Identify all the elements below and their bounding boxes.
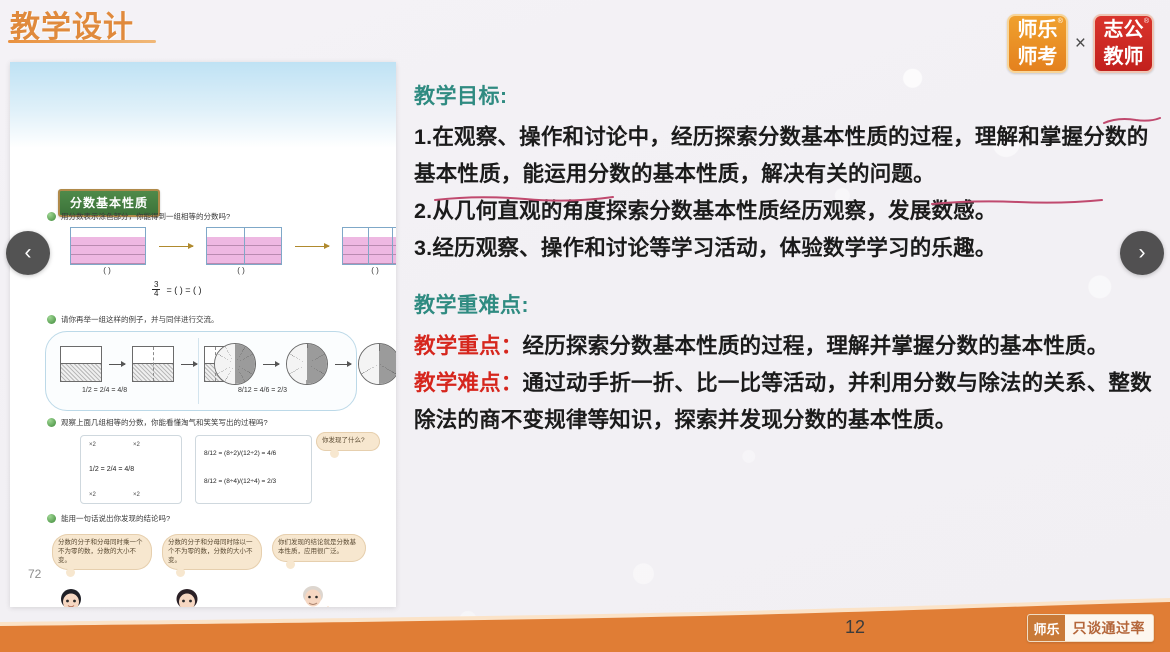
- teaching-goals-heading: 教学目标:: [414, 80, 1162, 110]
- book-question-1-text: 用分数表示涂色部分，你能得到一组相等的分数吗?: [61, 212, 230, 221]
- book-page-number: 72: [28, 567, 41, 581]
- speech-bubble-1: 分数的分子和分母同时乘一个不为零的数，分数的大小不变。: [52, 534, 152, 570]
- logo-right-line2: 教师: [1104, 47, 1144, 67]
- thought-bubble: 你发现了什么?: [316, 432, 380, 451]
- textbook-page-image: 分数基本性质 用分数表示涂色部分，你能得到一组相等的分数吗? (: [10, 62, 396, 607]
- book-equation-1: 3 4 = ( ) = ( ): [152, 281, 201, 298]
- bottom-bar: 12 师乐 只谈通过率: [0, 596, 1170, 652]
- bullet-dot-icon: [47, 418, 56, 427]
- arrow-right-icon: [263, 364, 279, 365]
- fraction-strip-3: [342, 227, 396, 265]
- bottom-wave-shape: [0, 596, 1170, 652]
- book-example-panel: 1/2 = 2/4 = 4/8 8/12 = 4/6 = 2/3: [45, 331, 357, 411]
- paren-blank-1: ( ): [70, 266, 144, 275]
- bullet-dot-icon: [47, 315, 56, 324]
- teaching-hard-point-label: 教学难点：: [414, 371, 523, 395]
- note-card-right-eq1: 8/12 = (8÷2)/(12÷2) = 4/6: [204, 450, 276, 457]
- pie-model-equation: 8/12 = 4/6 = 2/3: [238, 387, 287, 394]
- teaching-goal-2: 2.从几何直观的角度探索分数基本性质经历观察，发展数感。: [414, 193, 1162, 230]
- pie-model-group: [214, 343, 396, 385]
- book-question-4-text: 能用一句话说出你发现的结论吗?: [61, 514, 170, 523]
- pie-model-1: [214, 343, 256, 385]
- panel-divider: [198, 338, 199, 404]
- note-card-left-ops: ×2: [133, 442, 140, 448]
- pie-model-3: [358, 343, 396, 385]
- fraction-three-fourths: 3 4: [152, 281, 160, 298]
- pie-model-2: [286, 343, 328, 385]
- lesson-plan-content: 教学目标: 1.在观察、操作和讨论中，经历探索分数基本性质的过程，理解和掌握分数…: [414, 80, 1162, 439]
- book-question-3: 观察上面几组相等的分数，你能看懂淘气和笑笑写出的过程吗?: [47, 418, 377, 427]
- slide-canvas: 教学设计 ® 师乐 师考 × ® 志公 教师 分数基本性质 用分数表示涂色部分，…: [0, 0, 1170, 652]
- fraction-strip-row: [70, 227, 396, 265]
- speech-bubble-2: 分数的分子和分母同时除以一个不为零的数，分数的大小不变。: [162, 534, 262, 570]
- book-question-4: 能用一句话说出你发现的结论吗?: [47, 514, 377, 523]
- watermark-slogan: 只谈通过率: [1065, 615, 1154, 641]
- chevron-left-icon: ‹: [25, 241, 32, 265]
- fraction-strip-1: [70, 227, 146, 265]
- brand-logos: ® 师乐 师考 × ® 志公 教师: [1007, 14, 1154, 73]
- teaching-key-point-text: 经历探索分数基本性质的过程，理解并掌握分数的基本性质。: [523, 334, 1109, 358]
- prev-slide-button[interactable]: ‹: [6, 231, 50, 275]
- teaching-hard-point-text: 通过动手折一折、比一比等活动，并利用分数与除法的关系、整数除法的商不变规律等知识…: [414, 371, 1152, 432]
- paren-blank-3: ( ): [338, 266, 396, 275]
- square-model-equation: 1/2 = 2/4 = 4/8: [82, 387, 127, 394]
- book-sky-gradient: [10, 62, 396, 148]
- teaching-focus-block: 教学重难点: 教学重点：经历探索分数基本性质的过程，理解并掌握分数的基本性质。 …: [414, 289, 1162, 439]
- note-card-left-equation: 1/2 = 2/4 = 4/8: [89, 466, 134, 473]
- trademark-icon: ®: [1144, 18, 1149, 25]
- logo-left-line2: 师考: [1017, 47, 1057, 67]
- teaching-goal-1: 1.在观察、操作和讨论中，经历探索分数基本性质的过程，理解和掌握分数的基本性质，…: [414, 119, 1162, 193]
- arrow-right-icon: [335, 364, 351, 365]
- teaching-focus-heading: 教学重难点:: [414, 289, 1162, 319]
- note-card-left-ops: ×2: [89, 492, 96, 498]
- book-question-3-text: 观察上面几组相等的分数，你能看懂淘气和笑笑写出的过程吗?: [61, 418, 268, 427]
- arrow-right-icon: [181, 364, 197, 365]
- note-card-left: ×2 ×2 1/2 = 2/4 = 4/8 ×2 ×2: [80, 435, 182, 504]
- teaching-key-point-label: 教学重点：: [414, 334, 523, 358]
- teaching-goal-3: 3.经历观察、操作和讨论等学习活动，体验数学学习的乐趣。: [414, 230, 1162, 267]
- book-question-2: 请你再举一组这样的例子，并与同伴进行交流。: [47, 315, 377, 324]
- trademark-icon: ®: [1058, 18, 1063, 25]
- teaching-hard-point: 教学难点：通过动手折一折、比一比等活动，并利用分数与除法的关系、整数除法的商不变…: [414, 365, 1162, 439]
- note-card-right: 8/12 = (8÷2)/(12÷2) = 4/6 8/12 = (8÷4)/(…: [195, 435, 312, 504]
- logo-left-line1: 师乐: [1017, 20, 1057, 40]
- speech-bubble-3: 你们发现的结论就是分数基本性质，应用很广泛。: [272, 534, 366, 562]
- fraction-answer-parens: ( ) ( ) ( ): [70, 266, 396, 275]
- fraction-strip-2: [206, 227, 282, 265]
- book-question-1: 用分数表示涂色部分，你能得到一组相等的分数吗?: [47, 212, 377, 221]
- book-question-2-text: 请你再举一组这样的例子，并与同伴进行交流。: [61, 315, 219, 324]
- bullet-dot-icon: [47, 514, 56, 523]
- watermark-brand: 师乐: [1028, 615, 1064, 641]
- note-card-right-eq2: 8/12 = (8÷4)/(12÷4) = 2/3: [204, 478, 276, 485]
- arrow-right-icon: [159, 246, 193, 247]
- square-model-1: [60, 346, 102, 382]
- note-card-left-ops: ×2: [133, 492, 140, 498]
- arrow-right-icon: [295, 246, 329, 247]
- arrow-right-icon: [109, 364, 125, 365]
- logo-zhigongjiaoshi: ® 志公 教师: [1093, 14, 1154, 73]
- slide-page-number: 12: [845, 617, 865, 638]
- logo-separator-icon: ×: [1075, 33, 1086, 55]
- logo-shileshikao: ® 师乐 师考: [1007, 14, 1068, 73]
- logo-right-line1: 志公: [1104, 20, 1144, 40]
- title-underline: [8, 40, 156, 43]
- watermark-badge: 师乐 只谈通过率: [1027, 614, 1154, 642]
- square-model-2: [132, 346, 174, 382]
- bullet-dot-icon: [47, 212, 56, 221]
- book-equation-1-tail: = ( ) = ( ): [166, 285, 201, 295]
- paren-blank-2: ( ): [204, 266, 278, 275]
- teaching-goals-block: 教学目标: 1.在观察、操作和讨论中，经历探索分数基本性质的过程，理解和掌握分数…: [414, 80, 1162, 267]
- note-card-left-ops: ×2: [89, 442, 96, 448]
- teaching-key-point: 教学重点：经历探索分数基本性质的过程，理解并掌握分数的基本性质。: [414, 328, 1162, 365]
